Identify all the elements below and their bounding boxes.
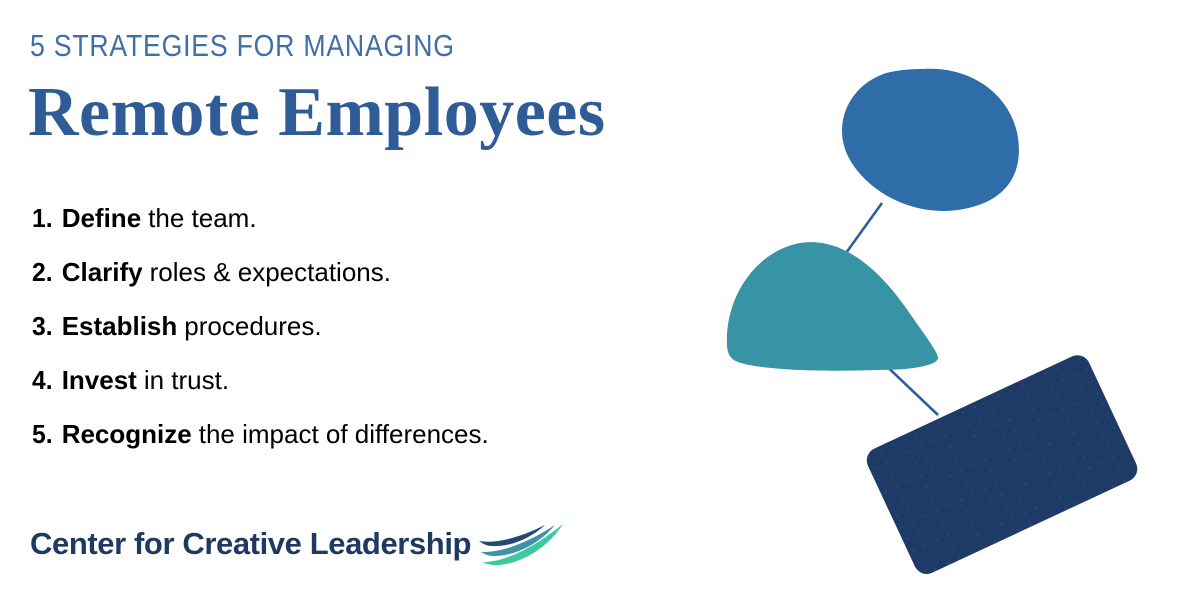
strategy-list: 1. Define the team. 2. Clarify roles & e… (32, 203, 722, 473)
list-item-number: 3. (32, 311, 53, 342)
ccl-logo: Center for Creative Leadership (30, 518, 565, 570)
page-title: Remote Employees (28, 78, 606, 148)
list-item-text: procedures. (184, 311, 321, 342)
list-item-number: 2. (32, 257, 53, 288)
list-item-keyword: Define (62, 203, 141, 234)
eyebrow-text: 5 Strategies for Managing (30, 28, 455, 64)
list-item: 2. Clarify roles & expectations. (32, 257, 722, 311)
abstract-connected-shapes (700, 40, 1200, 580)
list-item-keyword: Invest (62, 365, 137, 396)
teal-dome (727, 242, 938, 371)
connector-blob-to-dome (846, 203, 882, 253)
list-item: 4. Invest in trust. (32, 365, 722, 419)
text-column: 5 Strategies for Managing Remote Employe… (30, 0, 720, 600)
list-item-number: 4. (32, 365, 53, 396)
list-item: 5. Recognize the impact of differences. (32, 419, 722, 473)
ccl-swoosh-icon (479, 522, 565, 566)
list-item: 1. Define the team. (32, 203, 722, 257)
list-item-keyword: Recognize (62, 419, 192, 450)
list-item-number: 5. (32, 419, 53, 450)
list-item-keyword: Clarify (62, 257, 143, 288)
list-item-text: the impact of differences. (199, 419, 489, 450)
infographic-canvas: 5 Strategies for Managing Remote Employe… (0, 0, 1200, 600)
logo-wordmark: Center for Creative Leadership (30, 526, 471, 562)
list-item: 3. Establish procedures. (32, 311, 722, 365)
list-item-keyword: Establish (62, 311, 178, 342)
list-item-text: in trust. (144, 365, 229, 396)
list-item-text: the team. (148, 203, 256, 234)
list-item-number: 1. (32, 203, 53, 234)
navy-parallelogram (863, 351, 1142, 578)
list-item-text: roles & expectations. (150, 257, 391, 288)
blue-blob (842, 69, 1019, 211)
